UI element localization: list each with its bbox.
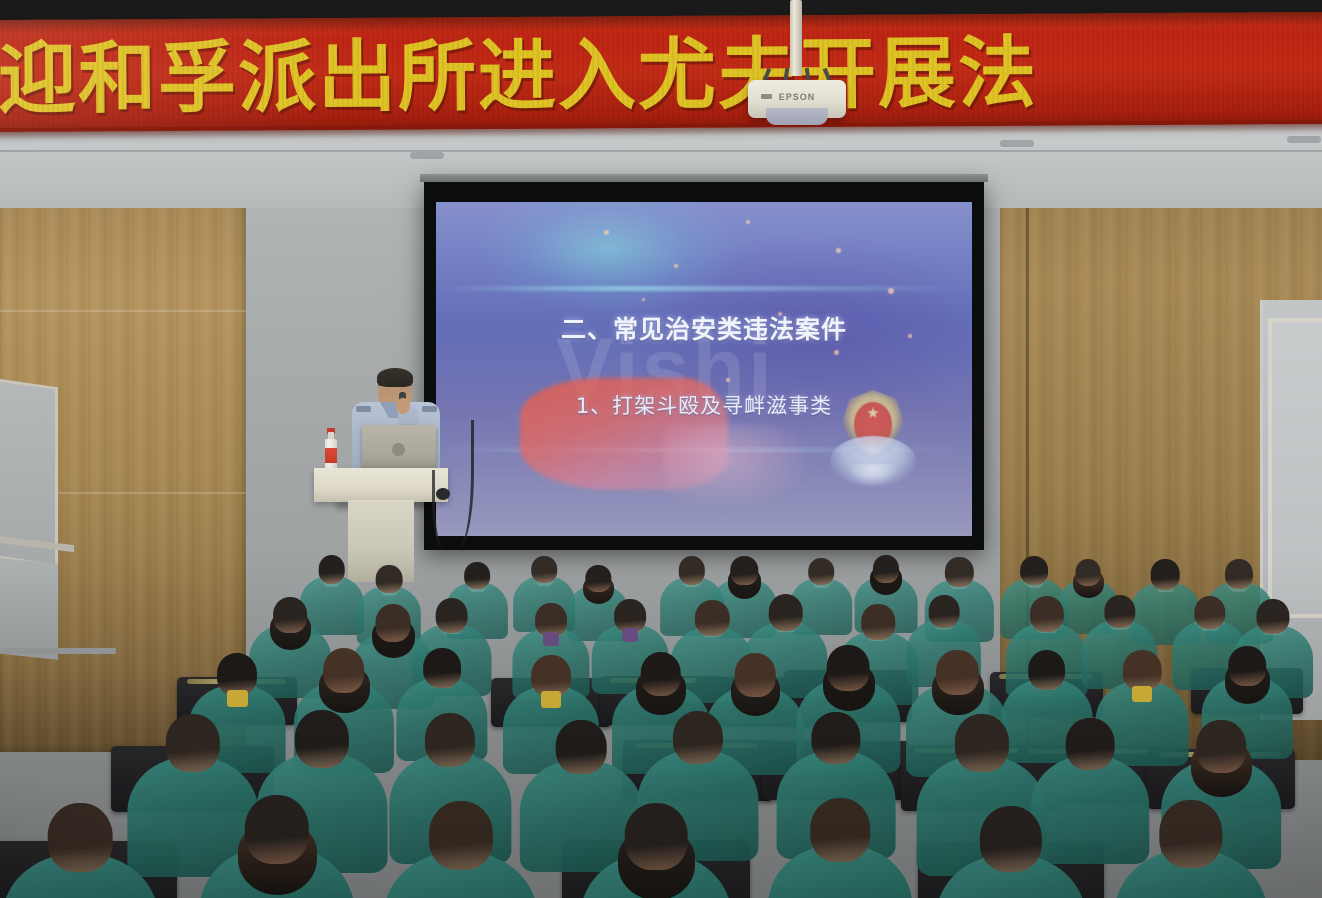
audience-head (556, 720, 607, 774)
audience-group (0, 0, 1322, 898)
audience-head (376, 565, 403, 594)
audience-head (827, 645, 870, 691)
neck-scarf (622, 628, 639, 642)
audience-head (245, 795, 309, 864)
audience-head (1076, 559, 1101, 586)
audience-head (48, 803, 113, 872)
audience-head (318, 555, 345, 583)
audience-head (464, 562, 490, 590)
audience-head (808, 558, 834, 585)
audience-head (735, 653, 776, 696)
audience-head (586, 565, 611, 592)
audience-head (1104, 595, 1135, 628)
audience-head (673, 711, 723, 765)
photo-scene: 迎和孚派出所进入尤夫开展法 Vishi (0, 0, 1322, 898)
neck-scarf (543, 632, 560, 646)
audience-head (936, 650, 978, 695)
audience-head (274, 597, 308, 633)
audience-head (695, 600, 729, 637)
audience-head (1020, 556, 1048, 586)
audience-head (873, 555, 899, 583)
neck-scarf (1132, 686, 1152, 702)
audience-head (1225, 559, 1253, 589)
neck-scarf (227, 690, 248, 707)
audience-head (165, 714, 219, 772)
audience-head (429, 801, 493, 869)
audience-head (1159, 800, 1222, 868)
audience-head (811, 712, 860, 765)
audience-head (532, 556, 558, 583)
audience-head (955, 714, 1009, 772)
audience-head (731, 556, 758, 585)
audience-head (1228, 646, 1266, 686)
audience-head (1196, 720, 1246, 773)
audience-head (929, 595, 960, 628)
audience-head (640, 652, 681, 695)
audience-head (861, 604, 895, 640)
audience-head (435, 598, 468, 633)
audience-head (423, 648, 461, 688)
audience-head (625, 803, 688, 870)
audience-head (769, 594, 804, 631)
audience-shoulders (1032, 756, 1149, 863)
audience-head (679, 556, 705, 584)
audience-head (376, 604, 411, 641)
audience-head (810, 798, 870, 862)
audience-head (1030, 596, 1064, 633)
audience-head (295, 710, 349, 768)
audience-head (945, 557, 973, 587)
audience-head (1066, 718, 1115, 770)
audience-head (980, 806, 1042, 873)
audience-head (1028, 650, 1066, 690)
audience-head (323, 648, 365, 692)
neck-scarf (541, 691, 562, 708)
audience-head (1194, 596, 1225, 630)
audience-head (1151, 559, 1180, 590)
audience-head (1257, 599, 1290, 634)
audience-head (425, 713, 475, 767)
